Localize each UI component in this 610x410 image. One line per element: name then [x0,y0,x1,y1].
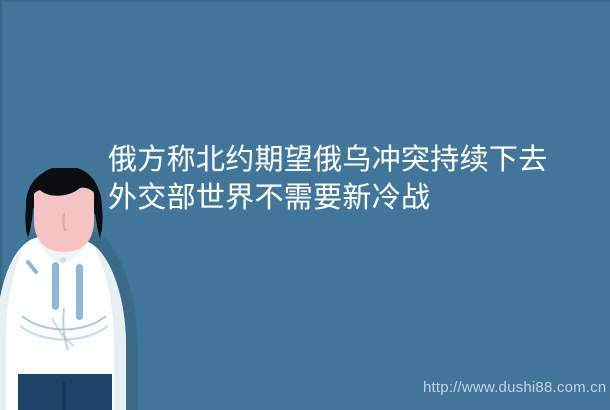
page-title: 俄方称北约期望俄乌冲突持续下去 外交部世界不需要新冷战 [108,141,600,217]
news-cover-banner: 俄方称北约期望俄乌冲突持续下去 外交部世界不需要新冷战 http://www.d… [0,0,610,410]
headline-line-1: 俄方称北约期望俄乌冲突持续下去 [108,141,600,179]
pants [18,374,112,410]
top-edge-shade [0,0,610,3]
headline-line-2: 外交部世界不需要新冷战 [108,179,600,217]
watermark-url: http://www.dushi88.com.cn [423,379,606,397]
